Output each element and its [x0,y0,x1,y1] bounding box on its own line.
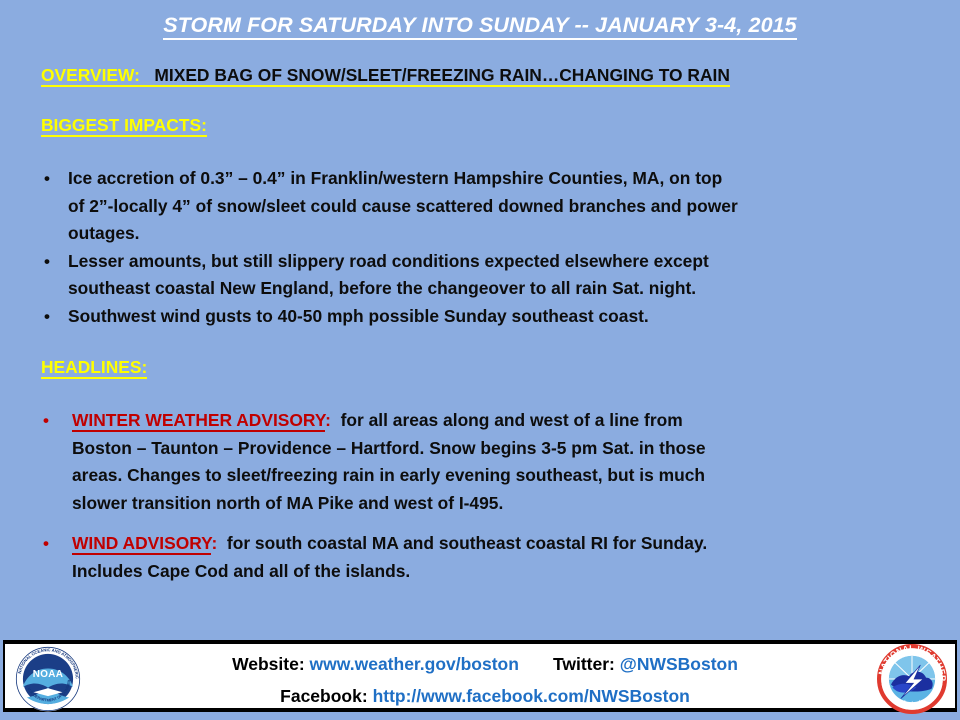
bullet-icon: • [43,407,49,435]
list-item-continuation: outages. [41,220,931,248]
list-item: • Lesser amounts, but still slippery roa… [41,248,931,276]
headline-continuation: Boston – Taunton – Providence – Hartford… [41,435,931,463]
list-item: • Ice accretion of 0.3” – 0.4” in Frankl… [41,165,931,193]
overview-text: MIXED BAG OF SNOW/SLEET/FREEZING RAIN…CH… [154,65,730,87]
svg-text:NOAA: NOAA [33,669,63,680]
headline-item: • WIND ADVISORY: for south coastal MA an… [41,530,931,558]
impacts-heading: BIGGEST IMPACTS: [41,112,931,138]
spacer [41,380,931,407]
headlines-heading: HEADLINES: [41,354,931,380]
website-link[interactable]: www.weather.gov/boston [310,654,519,674]
advisory-name: WIND ADVISORY [72,533,211,555]
headline-continuation: slower transition north of MA Pike and w… [41,490,931,518]
facebook-label: Facebook: [280,686,368,706]
spacer [41,88,931,112]
slide-title-text: STORM FOR SATURDAY INTO SUNDAY -- JANUAR… [163,13,797,40]
list-item-line: Lesser amounts, but still slippery road … [68,251,709,271]
advisory-colon: : [211,533,217,553]
spacer [41,330,931,354]
list-item-line: Southwest wind gusts to 40-50 mph possib… [68,306,649,326]
website-label: Website: [232,654,305,674]
noaa-logo-icon: NOAA NATIONAL OCEANIC AND ATMOSPHERIC AD… [15,646,81,712]
headline-item: • WINTER WEATHER ADVISORY: for all areas… [41,407,931,435]
impacts-heading-text: BIGGEST IMPACTS: [41,115,207,137]
briefing-slide: STORM FOR SATURDAY INTO SUNDAY -- JANUAR… [0,0,960,720]
slide-title: STORM FOR SATURDAY INTO SUNDAY -- JANUAR… [0,13,960,38]
list-item-continuation: of 2”-locally 4” of snow/sleet could cau… [41,193,931,221]
nws-logo-icon: NATIONAL WEATHER SERVICE ★ ★ ★ [877,644,947,714]
list-item-line: Ice accretion of 0.3” – 0.4” in Franklin… [68,168,722,188]
twitter-label: Twitter: [553,654,615,674]
list-item-continuation: southeast coastal New England, before th… [41,275,931,303]
footer-bar: NOAA NATIONAL OCEANIC AND ATMOSPHERIC AD… [3,640,957,712]
overview-row: OVERVIEW: MIXED BAG OF SNOW/SLEET/FREEZI… [41,62,931,88]
headline-continuation: areas. Changes to sleet/freezing rain in… [41,462,931,490]
advisory-colon: : [325,410,331,430]
footer-line-1: Website: www.weather.gov/boston Twitter:… [115,648,855,680]
slide-body: OVERVIEW: MIXED BAG OF SNOW/SLEET/FREEZI… [41,62,931,585]
footer-line-2: Facebook: http://www.facebook.com/NWSBos… [115,680,855,712]
footer-links: Website: www.weather.gov/boston Twitter:… [115,648,855,712]
overview-label: OVERVIEW: [41,65,140,87]
bullet-icon: • [44,248,50,276]
bullet-icon: • [43,530,49,558]
advisory-name: WINTER WEATHER ADVISORY [72,410,325,432]
headline-continuation: Includes Cape Cod and all of the islands… [41,558,931,586]
headline-text: for south coastal MA and southeast coast… [227,533,707,553]
twitter-link[interactable]: @NWSBoston [620,654,738,674]
facebook-link[interactable]: http://www.facebook.com/NWSBoston [373,686,690,706]
bullet-icon: • [44,165,50,193]
spacer [41,517,931,530]
headlines-heading-text: HEADLINES: [41,357,147,379]
bullet-icon: • [44,303,50,331]
list-item: • Southwest wind gusts to 40-50 mph poss… [41,303,931,331]
headline-text: for all areas along and west of a line f… [341,410,683,430]
spacer [41,138,931,165]
